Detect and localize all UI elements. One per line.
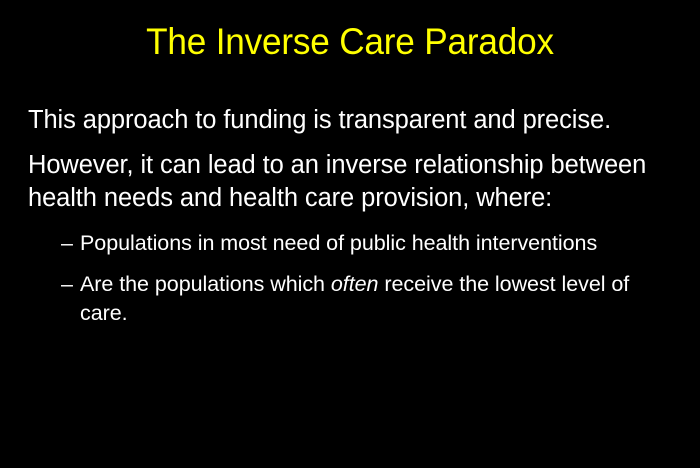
list-item: – Are the populations which often receiv… — [28, 270, 652, 328]
slide-canvas: The Inverse Care Paradox This approach t… — [0, 0, 700, 468]
en-dash-bullet-icon: – — [61, 229, 73, 258]
list-item: – Populations in most need of public hea… — [28, 229, 652, 258]
slide-body: This approach to funding is transparent … — [28, 104, 652, 328]
list-item-label: Populations in most need of public healt… — [80, 231, 597, 255]
en-dash-bullet-icon: – — [61, 270, 73, 299]
body-paragraph-2: However, it can lead to an inverse relat… — [28, 149, 652, 215]
list-item-emphasis: often — [331, 272, 379, 296]
list-item-label-pre: Are the populations which — [80, 272, 331, 296]
bullet-list: – Populations in most need of public hea… — [28, 229, 652, 328]
body-paragraph-1: This approach to funding is transparent … — [28, 104, 652, 137]
page-title: The Inverse Care Paradox — [18, 21, 683, 63]
